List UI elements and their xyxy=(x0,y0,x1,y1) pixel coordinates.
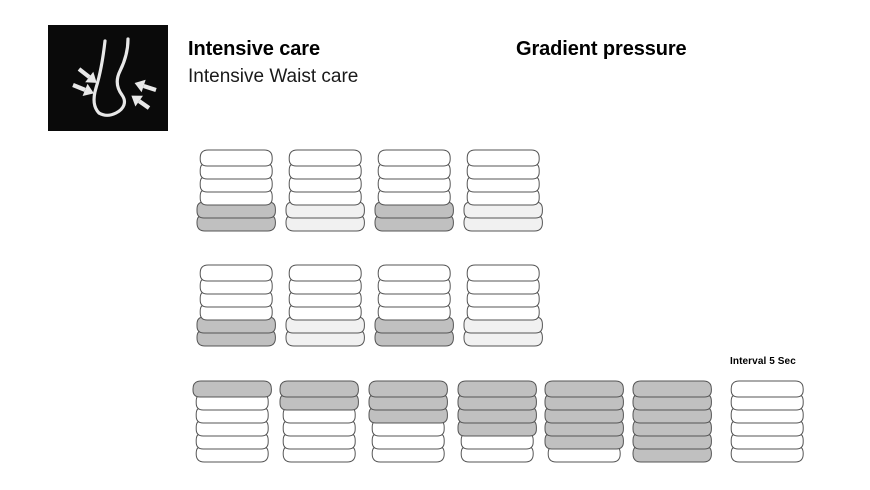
cuff-chamber xyxy=(200,265,272,281)
cuff-stack[interactable] xyxy=(630,376,714,467)
cuff-stack[interactable] xyxy=(725,376,809,467)
foot-compression-icon xyxy=(48,25,168,131)
cuff-stack[interactable] xyxy=(194,145,278,236)
cuff-stack[interactable] xyxy=(372,260,456,351)
gradient-pressure-title: Gradient pressure xyxy=(516,36,687,62)
cuff-chamber xyxy=(467,265,539,281)
cuff-chamber xyxy=(289,150,361,166)
cuff-chamber xyxy=(378,265,450,281)
page-title: Intensive care xyxy=(188,36,508,62)
cuff-stack[interactable] xyxy=(455,376,539,467)
cuff-chamber xyxy=(280,381,358,397)
cuff-chamber xyxy=(289,265,361,281)
cuff-stack[interactable] xyxy=(283,145,367,236)
cuff-chamber xyxy=(458,381,536,397)
cuff-chamber xyxy=(467,150,539,166)
cuff-stack[interactable] xyxy=(461,145,545,236)
cuff-stack[interactable] xyxy=(194,260,278,351)
cuff-stack[interactable] xyxy=(461,260,545,351)
title-block: Intensive care Intensive Waist care xyxy=(188,36,508,90)
cuff-stack[interactable] xyxy=(190,376,274,467)
cuff-chamber xyxy=(200,150,272,166)
cuff-stack[interactable] xyxy=(542,376,626,467)
cuff-chamber xyxy=(633,381,711,397)
diagram-canvas: Intensive care Intensive Waist care Grad… xyxy=(0,0,870,490)
cuff-stack[interactable] xyxy=(372,145,456,236)
cuff-chamber xyxy=(545,381,623,397)
cuff-chamber xyxy=(193,381,271,397)
cuff-chamber xyxy=(731,381,803,397)
cuff-stack[interactable] xyxy=(366,376,450,467)
cuff-chamber xyxy=(369,381,447,397)
page-subtitle: Intensive Waist care xyxy=(188,64,508,90)
cuff-stack[interactable] xyxy=(277,376,361,467)
cuff-chamber xyxy=(378,150,450,166)
cuff-stack[interactable] xyxy=(283,260,367,351)
interval-label: Interval 5 Sec xyxy=(730,356,796,367)
